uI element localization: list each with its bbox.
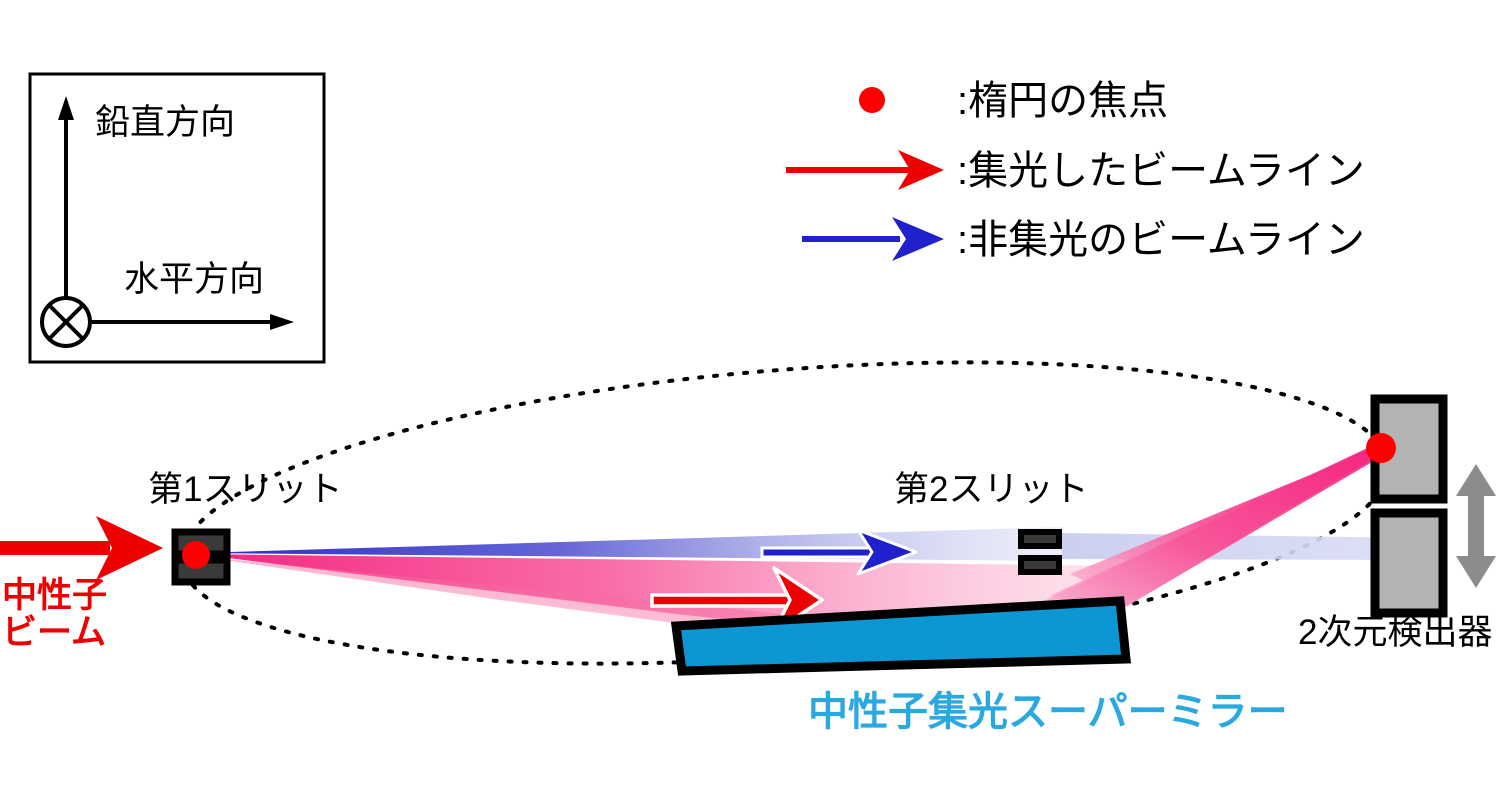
legend-label-focused-beam: :集光したビームライン bbox=[957, 149, 1365, 194]
label-neutron-beam-line1: 中性子 bbox=[2, 578, 107, 615]
incoming-neutron-beam-arrow bbox=[0, 516, 163, 580]
label-neutron-beam-line2: ビーム bbox=[2, 615, 107, 652]
axis-label-vertical: 鉛直方向 bbox=[95, 103, 235, 142]
focus-point-slit1 bbox=[182, 541, 210, 569]
circle-cross-icon bbox=[42, 298, 90, 346]
label-neutron-beam: 中性子 ビーム bbox=[2, 578, 107, 652]
two-dimensional-detector bbox=[1366, 399, 1443, 613]
legend-symbols bbox=[786, 87, 944, 261]
axis-label-horizontal: 水平方向 bbox=[124, 260, 264, 299]
legend-label-focus: :楕円の焦点 bbox=[957, 79, 1168, 124]
red-arrow-icon bbox=[786, 150, 944, 190]
label-slit-1: 第1スリット bbox=[148, 470, 342, 509]
red-dot-icon bbox=[859, 87, 885, 113]
label-detector: 2次元検出器 bbox=[1298, 613, 1492, 652]
detector-panel-lower bbox=[1375, 513, 1443, 613]
legend-label-unfocused-beam: :非集光のビームライン bbox=[957, 218, 1365, 263]
double-arrow-vertical-icon bbox=[1456, 464, 1496, 588]
label-supermirror: 中性子集光スーパーミラー bbox=[808, 690, 1288, 735]
blue-arrow-icon bbox=[802, 217, 944, 261]
slit-1 bbox=[175, 532, 227, 582]
label-slit-2: 第2スリット bbox=[894, 470, 1088, 509]
focus-point-detector bbox=[1366, 433, 1396, 463]
